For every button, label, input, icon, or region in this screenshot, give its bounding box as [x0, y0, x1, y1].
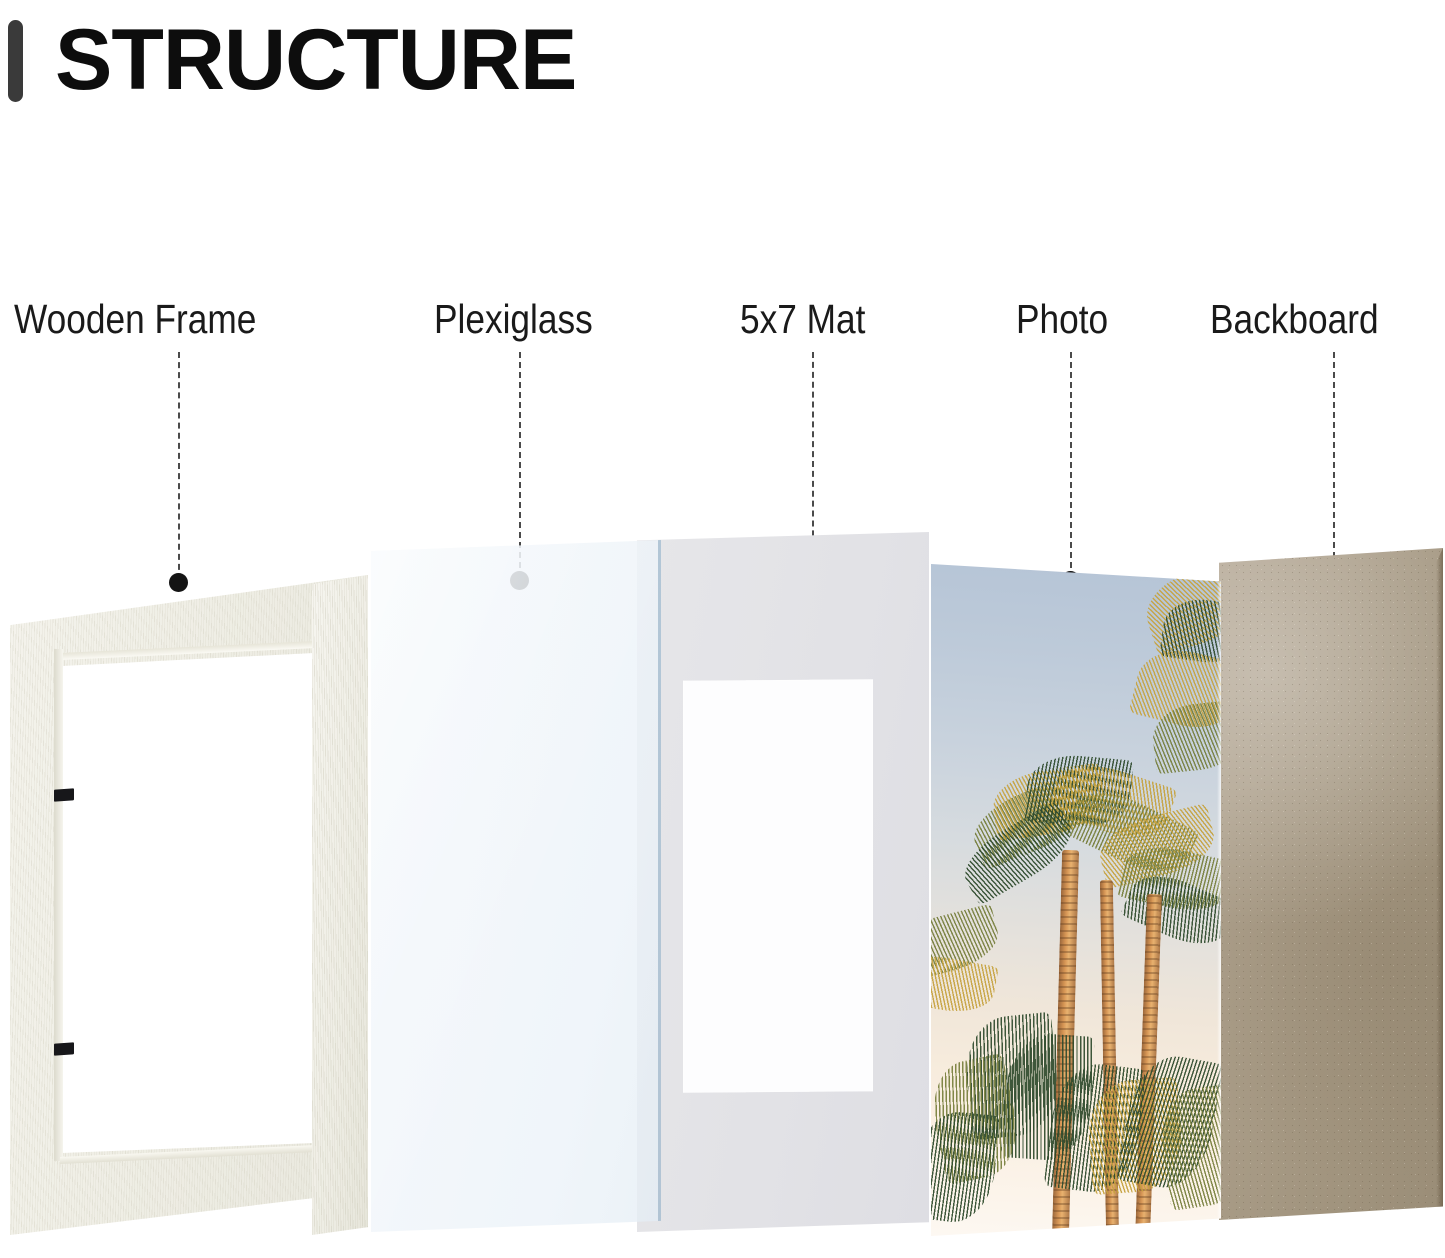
- layer-wooden-frame: [10, 575, 368, 1235]
- layer-label-wooden-frame: Wooden Frame: [14, 296, 256, 343]
- plexiglass-edge: [658, 540, 661, 1232]
- layer-label-photo: Photo: [1016, 296, 1108, 343]
- page-header: STRUCTURE: [0, 0, 1445, 120]
- photo-edge-highlight: [1217, 564, 1221, 1236]
- frame-mounting-clip: [54, 1042, 74, 1055]
- frame-side-depth: [312, 575, 368, 1235]
- plexiglass-sheen: [371, 540, 661, 1232]
- layer-plexiglass: [371, 540, 661, 1232]
- mat-window-opening: [683, 679, 873, 1092]
- layer-label-backboard: Backboard: [1210, 296, 1379, 343]
- layer-label-mat: 5x7 Mat: [740, 296, 865, 343]
- frame-opening: [62, 653, 314, 1153]
- frame-bevel-left: [54, 649, 63, 1161]
- layer-backboard: [1219, 548, 1443, 1220]
- page-title: STRUCTURE: [55, 8, 576, 112]
- exploded-layer-stack: [0, 500, 1445, 1258]
- backboard-texture: [1219, 548, 1443, 1220]
- backboard-edge-shadow: [1436, 548, 1443, 1220]
- frame-mounting-clip: [54, 788, 74, 801]
- infographic-page: STRUCTURE Wooden Frame Plexiglass 5x7 Ma…: [0, 0, 1445, 1258]
- layer-photo: [931, 564, 1221, 1236]
- title-accent-bar: [8, 20, 23, 102]
- layer-mat: [637, 532, 929, 1232]
- layer-label-plexiglass: Plexiglass: [434, 296, 593, 343]
